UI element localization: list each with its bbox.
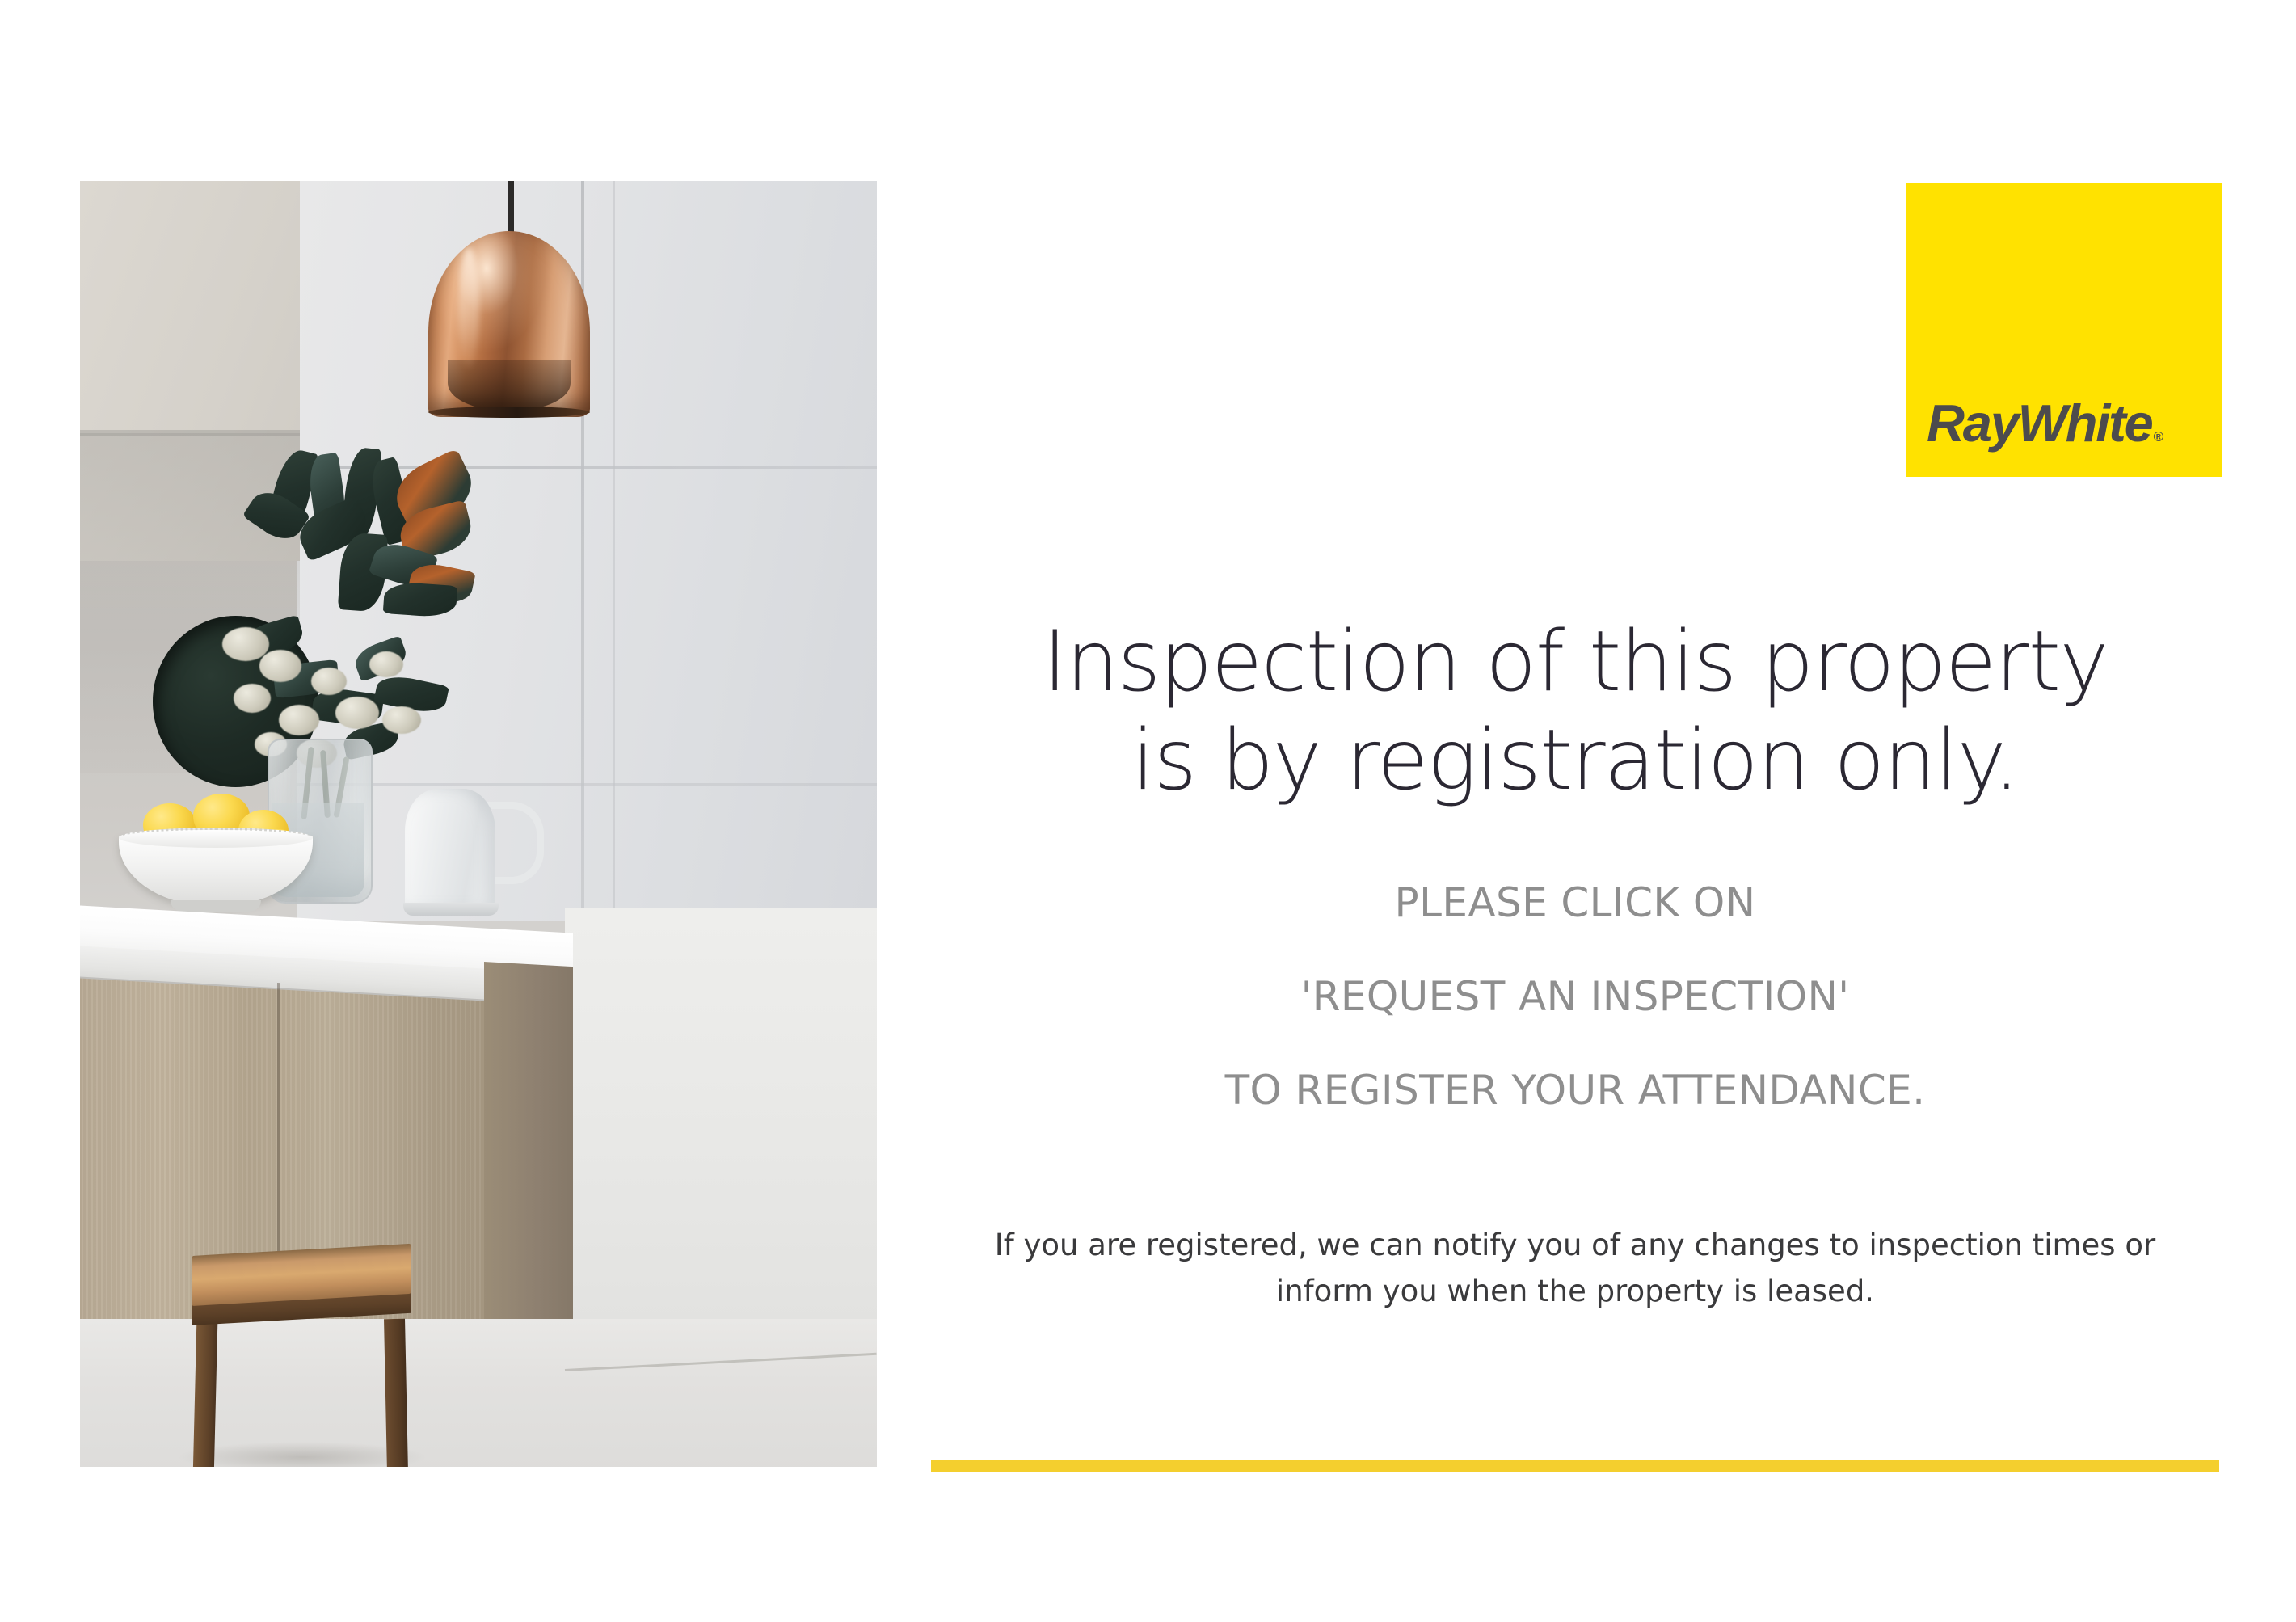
instruction-line-3: TO REGISTER YOUR ATTENDANCE.	[931, 1067, 2219, 1114]
inspection-notice-page: RayWhite® Inspection of this property is…	[0, 0, 2296, 1622]
content-column: RayWhite® Inspection of this property is…	[931, 0, 2219, 1622]
page-title: Inspection of this property is by regist…	[931, 613, 2219, 810]
headline-line-2: is by registration only.	[931, 712, 2219, 811]
headline-line-1: Inspection of this property	[931, 613, 2219, 712]
footnote-line-1: If you are registered, we can notify you…	[931, 1222, 2219, 1268]
ray-white-logo: RayWhite®	[1906, 183, 2222, 477]
berry-cluster	[234, 684, 271, 713]
berry-cluster	[222, 627, 269, 661]
pendant-lamp-highlight	[458, 247, 479, 369]
berry-cluster	[279, 705, 319, 735]
stool-leg-right	[384, 1319, 408, 1467]
instructions-block: PLEASE CLICK ON 'REQUEST AN INSPECTION' …	[931, 879, 2219, 1114]
footnote-block: If you are registered, we can notify you…	[931, 1222, 2219, 1315]
berry-cluster	[335, 697, 379, 729]
pendant-lamp-inner-shadow	[448, 360, 571, 411]
ceramic-pitcher	[405, 789, 495, 910]
photo-cabinet-seam-vertical-2	[613, 181, 615, 921]
berry-cluster	[369, 651, 403, 677]
photo-right-wall	[565, 908, 877, 1329]
kitchen-island-side	[484, 962, 573, 1346]
pitcher-base	[403, 903, 499, 916]
pendant-lamp-cord	[508, 181, 514, 236]
footnote-line-2: inform you when the property is leased.	[931, 1268, 2219, 1314]
logo-text-white: White	[2018, 394, 2152, 453]
stool-leg-left	[193, 1322, 218, 1467]
fruit-bowl-rim	[119, 828, 313, 848]
leaf	[383, 581, 458, 618]
instruction-line-2: 'REQUEST AN INSPECTION'	[931, 973, 2219, 1020]
berry-cluster	[382, 706, 421, 734]
berry-cluster	[311, 668, 347, 695]
instruction-line-1: PLEASE CLICK ON	[931, 879, 2219, 926]
berry-cluster	[259, 650, 301, 682]
logo-text-ray: Ray	[1927, 394, 2018, 453]
fruit-bowl-foot	[171, 900, 261, 912]
registered-trademark-icon: ®	[2154, 429, 2164, 444]
yellow-divider	[931, 1460, 2219, 1472]
pendant-lamp-rim	[428, 407, 590, 418]
ray-white-wordmark: RayWhite®	[1927, 397, 2163, 449]
kitchen-photo	[80, 181, 877, 1467]
